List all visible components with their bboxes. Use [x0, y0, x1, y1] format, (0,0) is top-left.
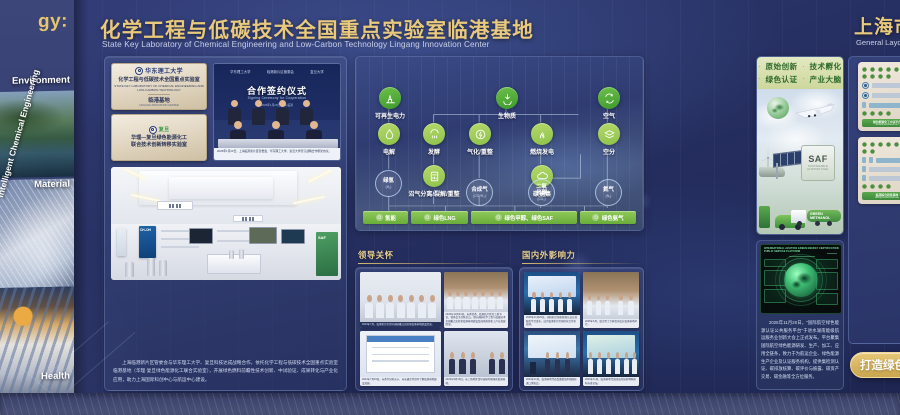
page-title: 化学工程与低碳技术全国重点实验室临港基地: [100, 13, 760, 43]
flow-node-label: 可再生电力: [370, 111, 410, 120]
plaque-line1: 华理—复旦绿色能源化工 联合技术创新转移实验室: [131, 135, 187, 149]
ceremony-table: [218, 139, 338, 148]
display-wall: CH₃OH SAF: [111, 224, 341, 281]
photo-caption: 2024年10月24日，市委常委、临港新片区党工委书记、管委会主任陈金山，带队调…: [444, 312, 508, 328]
tree-icon: [894, 67, 899, 72]
flow-node-label: 燃烧发电: [520, 147, 564, 156]
electrolysis-drop-icon: [378, 123, 400, 145]
tree-icon: [878, 184, 883, 189]
tank-top-icon: [862, 92, 869, 99]
air-separation-layers-icon: [598, 123, 620, 145]
photo-caption: 2024年7月24日，市委书记陈吉宁、市长龚正等领导了解临港基地建设进展。: [360, 377, 441, 386]
people-group: [524, 352, 580, 374]
layout-row: [862, 82, 900, 89]
bullet-dot-icon: ·: [803, 76, 805, 82]
canopy-pole: [776, 163, 778, 179]
output-product-bar: 氢能 绿色LNG 绿色甲醇、绿色SAF: [363, 211, 636, 224]
flow-node-air-separation[interactable]: 空分: [592, 123, 626, 156]
plaque-joint-lab: 复旦 华理—复旦绿色能源化工 联合技术创新转移实验室: [111, 114, 207, 161]
flow-product-carbon-dioxide[interactable]: 二氧 化碳 (CO₂): [528, 179, 555, 206]
tree-icon: [870, 74, 875, 79]
output-bar-label: 氢能: [385, 214, 396, 222]
biomass-leaf-icon: [496, 87, 518, 109]
green-energy-illustration: SAF SUSTAINABLE AVIATION FUEL GREEN METH…: [757, 89, 843, 235]
tree-icon: [870, 149, 875, 154]
list-item[interactable]: 2024年11月，临港基地代表受邀参加中国国际进口博览会。: [524, 331, 580, 387]
photo-leader-lab: [444, 331, 508, 378]
tree-row: [862, 184, 900, 189]
list-item[interactable]: 2024年7月，临港新片区领导调研重点实验室临港基地建设情况。: [360, 272, 441, 328]
tree-icon: [870, 111, 875, 116]
plaque-badge-en: LINGANG INNOVATION CENTER: [139, 104, 179, 107]
bullet-label: 技术孵化: [810, 61, 842, 72]
partner-mark: 复旦: [159, 126, 170, 133]
flow-product-green-hydrogen[interactable]: 绿氢 (H₂): [375, 170, 402, 197]
flow-node-electrolysis[interactable]: 电解: [372, 123, 406, 156]
product-name: 合成气: [471, 187, 487, 193]
photo-forum-hall: [524, 331, 580, 378]
tree-icon: [878, 67, 883, 72]
output-bar-ammonia[interactable]: 绿色氨气: [580, 211, 636, 224]
ceiling: [111, 167, 341, 226]
photo-caption: 2024年7月，临港新片区领导调研重点实验室临港基地建设情况。: [360, 322, 441, 327]
panel-seam: [74, 0, 88, 415]
section-heading-influence: 国内外影响力: [522, 249, 575, 261]
list-item[interactable]: 2024年11月，临港基地代表团出席绿色甲醇国际标准论坛。: [583, 331, 639, 387]
poster-label-methanol: CH₃OH: [140, 228, 151, 232]
layout-tag-research: 临港综合研发基地 Municipal research base zone: [862, 192, 900, 200]
layout-block-pilot[interactable]: 绿色能源化工中试平台 Municipal pilot platform zone: [858, 62, 900, 131]
layout-row: [862, 166, 900, 172]
layout-row: [862, 157, 900, 163]
poster-label-saf-wrapper: SAF: [316, 232, 338, 276]
signing-ceremony-photo: 华东理工大学 临港新片区管委会 复旦大学 合作签约仪式 Signing Cere…: [213, 63, 341, 161]
right-panel-title: 上海市: [854, 12, 900, 39]
tree-icon: [862, 142, 867, 147]
section-rule: [522, 263, 644, 264]
combustion-flame-icon: [531, 123, 553, 145]
university-seal-icon: [149, 126, 157, 134]
ev-charger: [759, 206, 770, 228]
product-name: 二氧 化碳: [536, 184, 547, 196]
flow-node-label: 生物质: [489, 111, 525, 120]
tree-icon: [862, 67, 867, 72]
center-board: 化学工程与低碳技术全国重点实验室临港基地 State Key Laborator…: [92, 0, 752, 415]
exhibition-hall-photo: CH₃OH SAF: [111, 167, 341, 280]
aviation-platform-card: INTERNATIONAL AVIATION GREEN ENERGY CERT…: [756, 240, 844, 390]
tree-icon: [862, 74, 867, 79]
flow-node-label: 气化/重整: [459, 147, 501, 156]
tree-icon: [886, 74, 891, 79]
hydrogen-icon: [376, 214, 383, 221]
gasification-bolt-icon: [469, 123, 491, 145]
output-bar-methanol-saf[interactable]: 绿色甲醇、绿色SAF: [471, 211, 577, 224]
layout-row: [862, 102, 900, 108]
methanol-saf-icon: [495, 214, 502, 221]
site-layout-card: 绿色能源化工中试平台 Municipal pilot platform zone: [848, 56, 900, 344]
list-item[interactable]: 2024年7月24日，市委书记陈吉宁、市长龚正等领导了解临港基地建设进展。: [360, 331, 441, 387]
left-panel-title: gy:: [0, 10, 74, 34]
layout-tag-pilot: 绿色能源化工中试平台 Municipal pilot platform zone: [862, 119, 900, 127]
plaque-badge: 临港基地: [148, 94, 170, 104]
layout-tag-label-en: Municipal research base zone: [864, 197, 900, 199]
tree-icon: [878, 142, 883, 147]
fermentation-icon: [423, 123, 445, 145]
people-group: [360, 295, 441, 318]
photo-caption: 2025年11月20日，国际航空绿色能源认证公共服务平台发布，成为临港新片区国际…: [524, 315, 580, 327]
bullet-dot-icon: ·: [803, 64, 805, 70]
photo-caption: 2024年11月，临港基地代表受邀参加中国国际进口博览会。: [524, 377, 580, 386]
photo-leader-slide: [360, 331, 441, 378]
plaque-line2: STATE KEY LABORATORY OF CHEMICAL ENGINEE…: [114, 84, 204, 92]
output-bar-label: 绿色甲醇、绿色SAF: [504, 214, 553, 222]
photo-leader-meeting: [444, 272, 508, 312]
flow-product-syngas[interactable]: 合成气 (CO+H₂): [466, 179, 493, 206]
tree-icon: [894, 142, 899, 147]
tree-row: [862, 142, 900, 154]
globe-graphic: [767, 97, 789, 119]
tree-icon: [862, 149, 867, 154]
layout-tag-label-en: Municipal pilot platform zone: [864, 124, 900, 126]
lng-icon: [424, 214, 431, 221]
methanol-tanker-truck: GREEN METHANOL: [791, 206, 841, 226]
layout-row: [862, 175, 900, 181]
plaque-state-key-lab: 华东理工大学 化学工程与低碳技术全国重点实验室 STATE KEY LABORA…: [111, 63, 207, 110]
platform-dashboard: INTERNATIONAL AVIATION GREEN ENERGY CERT…: [760, 244, 842, 314]
photo-caption: 2025年6月，联合院士专家咨询会在临港基地举行。: [583, 319, 639, 328]
platform-description: 2025年11月20日，"国际航空绿色能源认证公共服务平台"于进水湖南能级航运服…: [761, 319, 839, 381]
airplane-icon: [793, 101, 837, 121]
product-formula: (H₂): [386, 185, 392, 189]
screen-logo: 复旦大学: [310, 69, 324, 74]
unit-block: [862, 102, 866, 108]
material-photo: [0, 178, 74, 288]
photo-expert-meeting: [583, 272, 639, 319]
air-cycle-icon: [598, 87, 620, 109]
bullet-label: 绿色认证: [766, 74, 798, 85]
people-group: [524, 292, 580, 312]
list-item[interactable]: 2025年11月20日，国际航空绿色能源认证公共服务平台发布，成为临港新片区国际…: [524, 272, 580, 328]
flow-node-biogas-unit[interactable]: 沼气分离/裂解/重整: [396, 165, 472, 198]
bullet-row: · 原始创新 · 技术孵化: [759, 61, 842, 72]
section-rule: [358, 263, 508, 264]
biogas-unit-icon: [423, 165, 445, 187]
influence-card: 2025年11月20日，国际航空绿色能源认证公共服务平台发布，成为临港新片区国际…: [519, 267, 644, 391]
plaque-line1: 化学工程与低碳技术全国重点实验室: [118, 77, 200, 84]
plaque-logo-row: 华东理工大学: [135, 66, 183, 75]
building-block: [876, 158, 900, 163]
layout-block-research[interactable]: 临港综合研发基地 Municipal research base zone: [858, 137, 900, 204]
tree-icon: [870, 142, 875, 147]
people-group: [444, 290, 508, 308]
output-bar-lng[interactable]: 绿色LNG: [411, 211, 468, 224]
process-flow-card: 可再生电力 生物质 空气 电解: [355, 56, 644, 231]
photo-caption: 2024年9月13日，长三角地区领导调研考察绿色能源基地。: [444, 377, 508, 386]
tree-icon: [886, 111, 891, 116]
flow-product-nitrogen[interactable]: 氮气 (N₂): [595, 179, 622, 206]
lab-description: 上海临港新片区管委会与华东理工大学、复旦科技达成战略合作，依托化学工程与低碳技术…: [113, 359, 338, 384]
tree-row: [862, 67, 900, 79]
leader-photo-grid: 2024年7月，临港新片区领导调研重点实验室临港基地建设情况。 2024年10月…: [360, 272, 508, 386]
photo-caption: 2024年11月，临港基地代表团出席绿色甲醇国际标准论坛。: [583, 377, 639, 386]
page-subtitle: State Key Laboratory of Chemical Enginee…: [102, 40, 489, 49]
tree-icon: [862, 111, 867, 116]
flow-node-label: 空气: [592, 111, 626, 120]
section-heading-leader-care: 领导关怀: [358, 249, 394, 261]
wind-solar-icon: [379, 87, 401, 109]
right-panel-subtitle: General Layou: [856, 38, 900, 47]
flow-node-label: 发酵: [417, 147, 451, 156]
product-name: 绿氢: [383, 178, 394, 184]
exhibition-wall: gy: Environment Material Intelligent Che…: [0, 0, 900, 415]
tree-icon: [878, 74, 883, 79]
unit-block: [862, 157, 866, 163]
photo-leader-visit: [360, 272, 441, 322]
flow-node-renewable-power[interactable]: 可再生电力: [370, 87, 410, 120]
people-group: [583, 352, 639, 374]
product-formula: (CO+H₂): [473, 194, 485, 198]
left-label-material: Material: [34, 179, 70, 191]
list-item[interactable]: 2024年9月13日，长三角地区领导调研考察绿色能源基地。: [444, 331, 508, 387]
output-bar-hydrogen[interactable]: 氢能: [363, 211, 408, 224]
flow-node-gasification[interactable]: 气化/重整: [459, 123, 501, 156]
tree-icon: [870, 184, 875, 189]
list-item[interactable]: 2025年6月，联合院士专家咨询会在临港基地举行。: [583, 272, 639, 328]
photo-platform-launch: [524, 272, 580, 315]
product-formula: (CO₂): [537, 197, 545, 201]
right-column: · 原始创新 · 技术孵化 · 绿色认证 · 产业大脑: [756, 0, 900, 415]
gold-slogan-button[interactable]: 打造绿色: [850, 352, 900, 378]
left-label-environment: Environment: [12, 75, 70, 87]
unit-block: [862, 175, 866, 181]
tree-icon: [870, 67, 875, 72]
flow-node-combustion-power[interactable]: 燃烧发电: [520, 123, 564, 156]
product-formula: (N₂): [606, 194, 612, 198]
plaque-logo-row: 复旦: [149, 126, 170, 134]
building-block: [869, 167, 900, 172]
green-bullet-header: · 原始创新 · 技术孵化 · 绿色认证 · 产业大脑: [757, 57, 843, 89]
flow-node-air[interactable]: 空气: [592, 87, 626, 120]
tree-icon: [886, 67, 891, 72]
photo-standards-forum: [583, 331, 639, 378]
saf-storage-tank: SAF SUSTAINABLE AVIATION FUEL: [801, 145, 835, 181]
output-bar-label: 绿色氨气: [602, 214, 624, 222]
flow-node-label: 沼气分离/裂解/重整: [396, 189, 472, 198]
bullet-row: · 绿色认证 · 产业大脑: [759, 74, 842, 85]
tank-sublabel: SUSTAINABLE AVIATION FUEL: [802, 165, 834, 171]
green-innovation-card: · 原始创新 · 技术孵化 · 绿色认证 · 产业大脑: [756, 56, 844, 235]
layout-row: [862, 92, 900, 99]
unit-block: [869, 157, 873, 163]
slide-content: [366, 335, 435, 373]
ship-graphic: [759, 167, 785, 177]
tree-row: [862, 111, 900, 116]
gold-button-label: 打造绿色: [860, 357, 900, 373]
left-adjacent-panel: gy: Environment Material Intelligent Che…: [0, 0, 74, 415]
bullet-dot-icon: ·: [759, 76, 761, 82]
floor: [0, 393, 900, 415]
influence-photo-grid: 2025年11月20日，国际航空绿色能源认证公共服务平台发布，成为临港新片区国际…: [524, 272, 639, 386]
signing-photo-caption: 2025年1月20日，上海临港新片区管委会、华东理工大学、复旦大学签订战略合作框…: [214, 148, 340, 160]
globe-visualization: [784, 263, 818, 297]
university-seal-icon: [135, 67, 143, 75]
plaque-university: 华东理工大学: [145, 66, 183, 75]
screen-logo-row: 华东理工大学 临港新片区管委会 复旦大学: [214, 69, 340, 74]
screen-logo: 华东理工大学: [230, 69, 250, 74]
tree-icon: [862, 184, 867, 189]
screen-logo: 临港新片区管委会: [267, 69, 294, 74]
flow-node-biomass[interactable]: 生物质: [489, 87, 525, 120]
building-block: [872, 93, 900, 98]
leader-care-card: 2024年7月，临港新片区领导调研重点实验室临港基地建设情况。 2024年10月…: [355, 267, 513, 391]
ammonia-icon: [592, 214, 599, 221]
building-block: [872, 83, 900, 88]
tree-icon: [878, 111, 883, 116]
output-bar-label: 绿色LNG: [433, 214, 455, 222]
people-group: [583, 294, 639, 316]
bullet-label: 产业大脑: [810, 74, 842, 85]
truck-label: GREEN METHANOL: [810, 212, 830, 221]
unit-block: [862, 166, 866, 172]
product-name: 氮气: [603, 187, 614, 193]
list-item[interactable]: 2024年10月24日，市委常委、临港新片区党工委书记、管委会主任陈金山，带队调…: [444, 272, 508, 328]
truck-tank: GREEN METHANOL: [807, 210, 841, 222]
plaque-group: 华东理工大学 化学工程与低碳技术全国重点实验室 STATE KEY LABORA…: [111, 63, 207, 161]
bullet-label: 原始创新: [766, 61, 798, 72]
tank-top-icon: [862, 82, 869, 89]
people-group: [444, 352, 508, 374]
flow-node-fermentation[interactable]: 发酵: [417, 123, 451, 156]
lab-overview-card: 华东理工大学 化学工程与低碳技术全国重点实验室 STATE KEY LABORA…: [104, 56, 347, 391]
building-block: [869, 176, 900, 181]
flow-node-label: 空分: [592, 147, 626, 156]
building-block: [869, 103, 900, 108]
tank-label: SAF: [802, 154, 834, 164]
tree-icon: [886, 142, 891, 147]
flow-node-label: 电解: [372, 147, 406, 156]
poster-label-saf: SAF: [318, 235, 326, 240]
tree-icon: [886, 184, 891, 189]
bullet-dot-icon: ·: [759, 64, 761, 70]
